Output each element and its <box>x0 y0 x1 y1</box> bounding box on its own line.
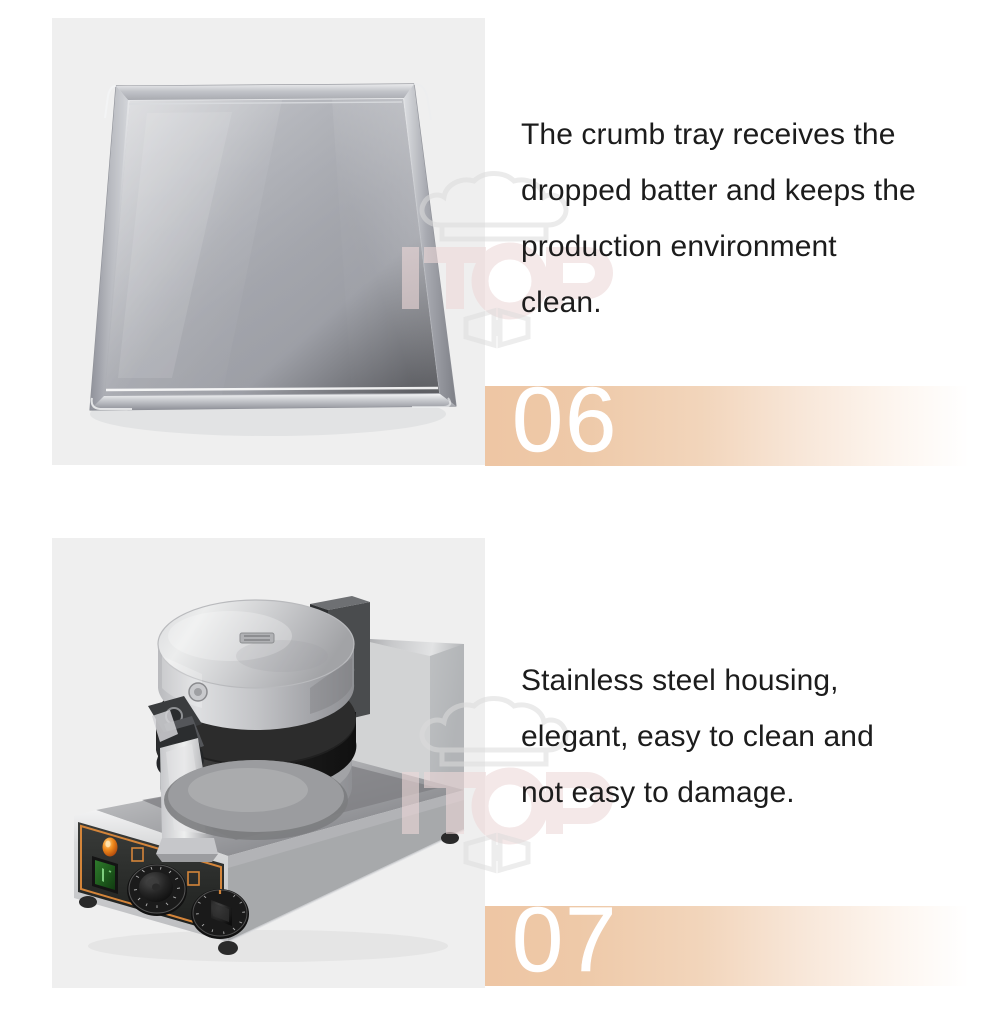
feature-text-07: Stainless steel housing, elegant, easy t… <box>521 653 961 821</box>
feature-line: production environment <box>521 219 961 275</box>
temperature-knob <box>191 889 249 939</box>
timer-dial <box>127 864 187 916</box>
product-feature-page: The crumb tray receives the dropped batt… <box>0 0 1000 1021</box>
feature-text-06: The crumb tray receives the dropped batt… <box>521 107 961 331</box>
feature-line: Stainless steel housing, <box>521 653 961 709</box>
feature-section-06: The crumb tray receives the dropped batt… <box>0 0 1000 470</box>
waffle-maker-illustration <box>52 538 485 988</box>
section-number-06: 06 <box>512 386 618 466</box>
feature-line: elegant, easy to clean and <box>521 709 961 765</box>
feature-section-07: Stainless steel housing, elegant, easy t… <box>0 535 1000 1005</box>
waffle-maker-svg <box>52 538 485 988</box>
crumb-tray-photo <box>52 18 485 465</box>
waffle-maker-photo <box>52 538 485 988</box>
crumb-tray-illustration <box>52 18 485 465</box>
section-number-07: 07 <box>512 906 618 986</box>
feature-line: The crumb tray receives the <box>521 107 961 163</box>
indicator-lamp <box>103 838 118 857</box>
feature-line: dropped batter and keeps the <box>521 163 961 219</box>
section-number-badge-07: 07 <box>485 906 1000 986</box>
section-number-badge-06: 06 <box>485 386 1000 466</box>
crumb-tray-svg <box>52 18 485 465</box>
feature-line: not easy to damage. <box>521 765 961 821</box>
feature-line: clean. <box>521 275 961 331</box>
